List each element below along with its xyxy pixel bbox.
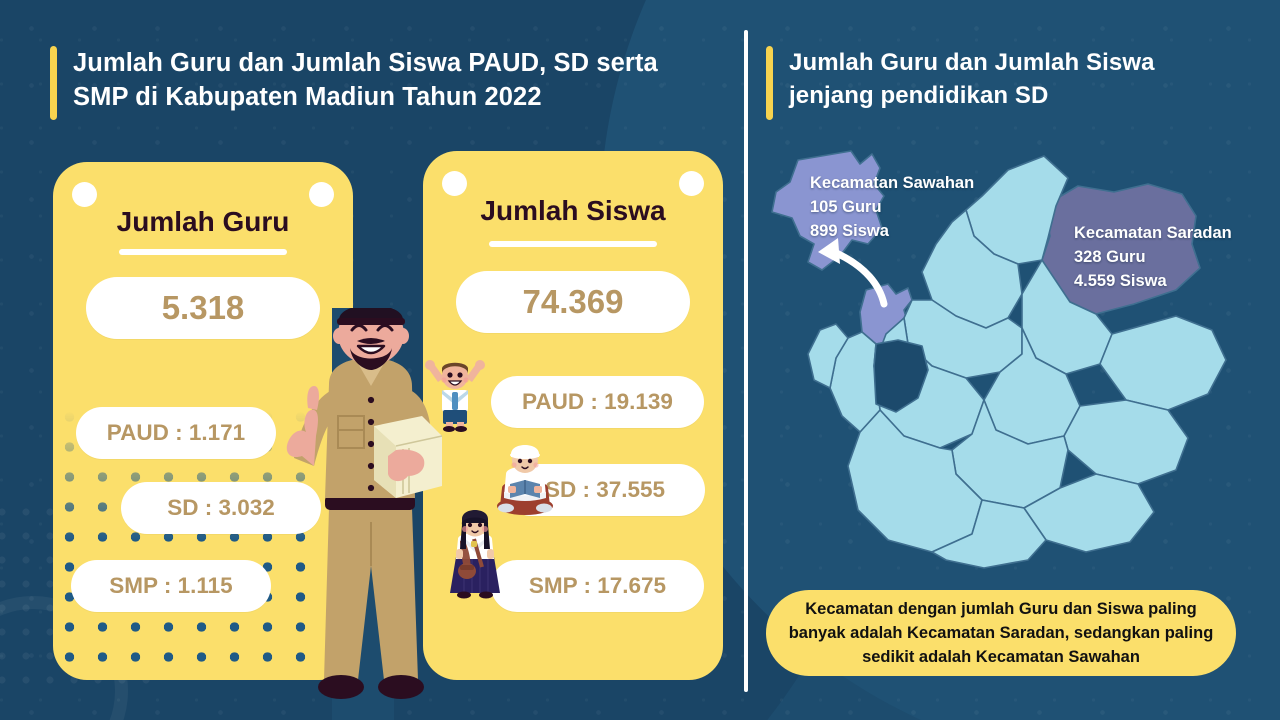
card-hole-right-icon (309, 182, 334, 207)
map-region (1064, 400, 1188, 484)
guru-total-value: 5.318 (86, 277, 320, 339)
stat-card-siswa: Jumlah Siswa 74.369 PAUD : 19.139 SD : 3… (423, 151, 723, 680)
siswa-paud-value: PAUD : 19.139 (491, 376, 704, 428)
map-callout-sawahan: Kecamatan Sawahan 105 Guru 899 Siswa (810, 171, 974, 243)
siswa-smp-value: SMP : 17.675 (491, 560, 704, 612)
card-heading-rule (489, 241, 657, 247)
guru-smp-value: SMP : 1.115 (71, 560, 271, 612)
card-hole-left-icon (442, 171, 467, 196)
left-panel-title: Jumlah Guru dan Jumlah Siswa PAUD, SD se… (50, 46, 710, 120)
callout-sawahan-name: Kecamatan Sawahan (810, 171, 974, 195)
callout-saradan-siswa: 4.559 Siswa (1074, 269, 1232, 293)
guru-sd-value: SD : 3.032 (121, 482, 321, 534)
panel-divider (744, 30, 748, 692)
right-panel-title: Jumlah Guru dan Jumlah Siswa jenjang pen… (766, 46, 1236, 120)
title-accent-bar (50, 46, 57, 120)
callout-sawahan-siswa: 899 Siswa (810, 219, 974, 243)
map-callout-saradan: Kecamatan Saradan 328 Guru 4.559 Siswa (1074, 221, 1232, 293)
siswa-sd-value: SD : 37.555 (505, 464, 705, 516)
card-guru-heading: Jumlah Guru (53, 206, 353, 238)
card-siswa-heading: Jumlah Siswa (423, 195, 723, 227)
callout-saradan-guru: 328 Guru (1074, 245, 1232, 269)
siswa-total-value: 74.369 (456, 271, 690, 333)
map-region (1100, 316, 1226, 410)
card-hole-right-icon (679, 171, 704, 196)
summary-note-box: Kecamatan dengan jumlah Guru dan Siswa p… (766, 590, 1236, 676)
left-panel-title-text: Jumlah Guru dan Jumlah Siswa PAUD, SD se… (73, 46, 710, 114)
title-accent-bar (766, 46, 773, 120)
callout-saradan-name: Kecamatan Saradan (1074, 221, 1232, 245)
summary-note-text: Kecamatan dengan jumlah Guru dan Siswa p… (788, 597, 1214, 669)
card-heading-rule (119, 249, 287, 255)
guru-paud-value: PAUD : 1.171 (76, 407, 276, 459)
card-hole-left-icon (72, 182, 97, 207)
right-panel-title-text: Jumlah Guru dan Jumlah Siswa jenjang pen… (789, 46, 1236, 112)
callout-sawahan-guru: 105 Guru (810, 195, 974, 219)
stat-card-guru: Jumlah Guru 5.318 PAUD : 1.171 SD : 3.03… (53, 162, 353, 680)
